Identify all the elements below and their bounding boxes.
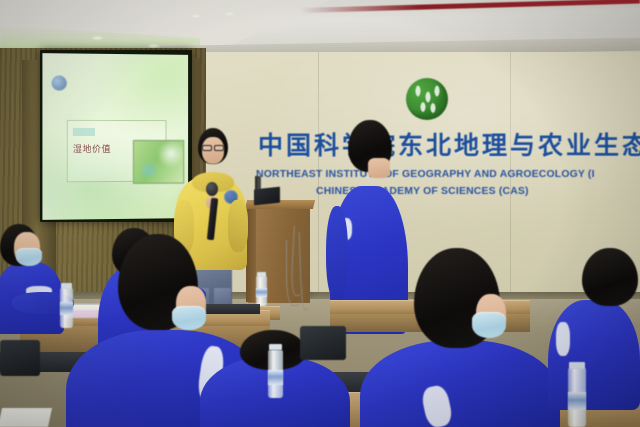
student-sleeve — [326, 206, 348, 302]
glasses-icon — [202, 145, 212, 151]
chair-back — [0, 340, 40, 376]
laptop — [254, 187, 280, 206]
wall-sign-english-line-1: NORTHEAST INSTITUTE OF GEOGRAPHY AND AGR… — [256, 169, 640, 180]
bottle-cap — [257, 272, 266, 277]
presenter-sleeve — [228, 200, 248, 252]
floor-stage-edge — [0, 292, 640, 299]
glasses-icon — [214, 145, 224, 151]
wall-sign-chinese-title: 中国科学院东北地理与农业生态研究 — [258, 126, 640, 162]
projection-screen-surface: 湿地价值 — [42, 53, 188, 220]
face-mask — [172, 306, 206, 330]
student-neck — [368, 158, 390, 178]
face-mask — [472, 312, 506, 338]
downlight-icon — [224, 12, 235, 16]
bottle-cap — [569, 362, 585, 369]
projection-screen-frame: 湿地价值 — [40, 50, 192, 222]
globe-wave-glyph — [412, 83, 442, 115]
globe-logo-icon — [406, 78, 448, 120]
bottle-label — [256, 288, 267, 297]
bottle-label — [268, 370, 283, 385]
uniform-shoulder-stripe — [556, 322, 570, 356]
microphone-head — [206, 182, 218, 196]
cable — [286, 240, 304, 306]
chair-back — [300, 326, 346, 360]
screen-sheen — [42, 53, 188, 220]
bottle-cap — [269, 344, 282, 350]
downlight-icon — [92, 36, 103, 40]
bottle-label — [60, 302, 73, 315]
bottle-label — [568, 392, 586, 410]
bottle-cap — [61, 283, 72, 289]
student-head — [582, 248, 638, 306]
downlight-icon — [190, 14, 201, 18]
papers-on-desk — [0, 408, 52, 427]
lecture-hall-photograph: 湿地价值 中国科学院东北地理与农业生态研究 NORTHEAST INSTITUT… — [0, 0, 640, 427]
face-mask — [16, 248, 42, 266]
